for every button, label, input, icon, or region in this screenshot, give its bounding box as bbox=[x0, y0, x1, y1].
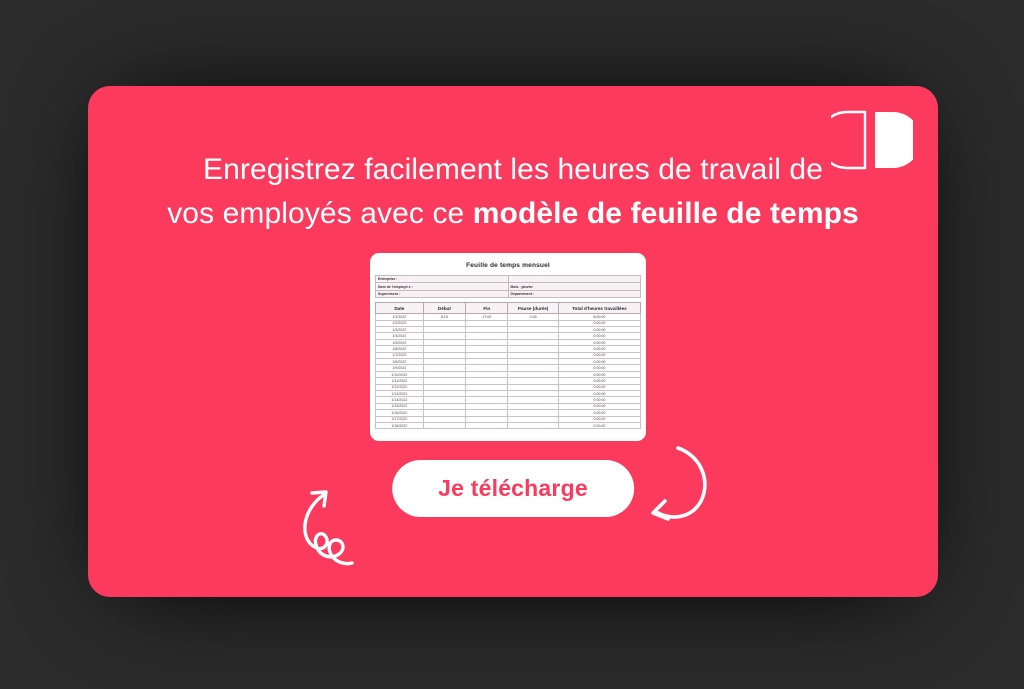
timesheet-meta-row: Superviseur :Département : bbox=[376, 290, 641, 297]
curved-arrow-down-left-icon bbox=[639, 439, 721, 531]
headline-line-2-normal: vos employés avec ce bbox=[167, 197, 473, 230]
timesheet-meta-label-right: Mois : janvier bbox=[508, 283, 641, 290]
timesheet-meta-label-right bbox=[508, 276, 641, 283]
timesheet-meta-row: Entreprise : bbox=[376, 276, 641, 283]
timesheet-meta-row: Nom de l'employé.e :Mois : janvier bbox=[376, 283, 641, 290]
cell-fin bbox=[466, 422, 508, 428]
timesheet-meta-label-left: Nom de l'employé.e : bbox=[376, 283, 509, 290]
column-header-date: Date bbox=[376, 303, 424, 314]
timesheet-preview-image: Feuille de temps mensuel Entreprise :Nom… bbox=[370, 253, 646, 441]
curly-arrow-up-right-icon bbox=[295, 480, 377, 572]
cell-debut bbox=[423, 422, 465, 428]
cell-pause bbox=[508, 422, 558, 428]
headline-line-1: Enregistrez facilement les heures de tra… bbox=[128, 148, 898, 192]
cell-total: 0:00:00 bbox=[558, 422, 640, 428]
timesheet-meta-label-right: Département : bbox=[508, 290, 641, 297]
column-header-debut: Début bbox=[423, 303, 465, 314]
timesheet-grid: Date Début Fin Pause (durée) Total d'heu… bbox=[375, 302, 641, 429]
promo-card: Enregistrez facilement les heures de tra… bbox=[88, 86, 938, 597]
cell-date: 1/18/2022 bbox=[376, 422, 424, 428]
column-header-pause: Pause (durée) bbox=[508, 303, 558, 314]
download-button[interactable]: Je télécharge bbox=[392, 460, 634, 517]
timesheet-meta-label-left: Entreprise : bbox=[376, 276, 509, 283]
headline-line-2-strong: modèle de feuille de temps bbox=[473, 197, 859, 230]
timesheet-meta-label-left: Superviseur : bbox=[376, 290, 509, 297]
headline-line-2: vos employés avec ce modèle de feuille d… bbox=[128, 192, 898, 236]
column-header-total: Total d'heures travaillées bbox=[558, 303, 640, 314]
timesheet-title: Feuille de temps mensuel bbox=[375, 257, 641, 275]
column-header-fin: Fin bbox=[466, 303, 508, 314]
table-row: 1/18/20220:00:00 bbox=[376, 422, 641, 428]
page-title: Enregistrez facilement les heures de tra… bbox=[88, 148, 938, 236]
timesheet-meta-table: Entreprise :Nom de l'employé.e :Mois : j… bbox=[375, 275, 641, 298]
timesheet-header-row: Date Début Fin Pause (durée) Total d'heu… bbox=[376, 303, 641, 314]
